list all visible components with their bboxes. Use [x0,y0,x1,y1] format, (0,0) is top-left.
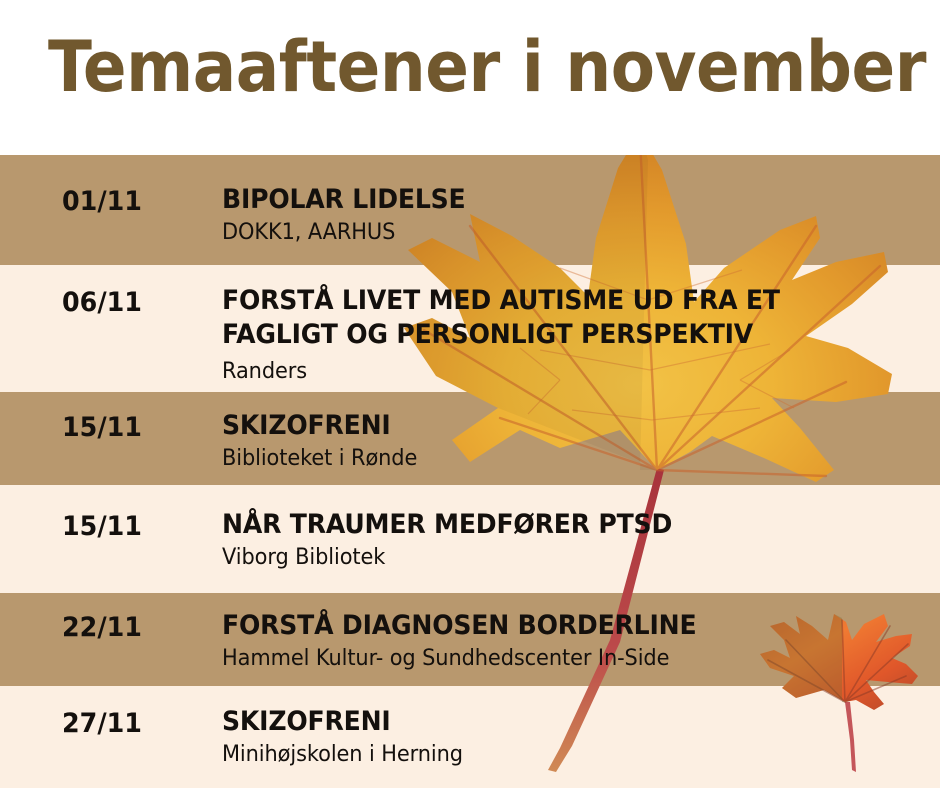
event-venue: Hammel Kultur- og Sundhedscenter In-Side [222,645,895,673]
event-title: BIPOLAR LIDELSE [222,183,880,217]
event-info: SKIZOFRENI Minihøjskolen i Herning [222,705,930,769]
event-row[interactable]: 22/11 FORSTÅ DIAGNOSEN BORDERLINE Hammel… [0,593,940,686]
event-title: NÅR TRAUMER MEDFØRER PTSD [222,508,880,542]
event-date: 06/11 [62,287,142,318]
event-title: FORSTÅ LIVET MED AUTISME UD FRA ET FAGLI… [222,284,873,352]
event-info: SKIZOFRENI Biblioteket i Rønde [222,409,930,473]
event-venue: Minihøjskolen i Herning [222,741,895,769]
event-date: 15/11 [62,412,142,443]
event-title: FORSTÅ DIAGNOSEN BORDERLINE [222,609,880,643]
event-venue: Biblioteket i Rønde [222,445,895,473]
event-date: 27/11 [62,708,142,739]
event-date: 22/11 [62,612,142,643]
event-row[interactable]: 01/11 BIPOLAR LIDELSE DOKK1, AARHUS [0,155,940,265]
event-date: 15/11 [62,511,142,542]
event-info: NÅR TRAUMER MEDFØRER PTSD Viborg Bibliot… [222,508,930,572]
event-poster: Temaaftener i november 01/11 BIPOLAR LID… [0,0,940,788]
event-info: FORSTÅ LIVET MED AUTISME UD FRA ET FAGLI… [222,284,930,386]
event-row[interactable]: 06/11 FORSTÅ LIVET MED AUTISME UD FRA ET… [0,265,940,392]
event-venue: Randers [222,358,895,386]
event-date: 01/11 [62,186,142,217]
event-info: BIPOLAR LIDELSE DOKK1, AARHUS [222,183,930,247]
event-venue: Viborg Bibliotek [222,544,895,572]
event-row[interactable]: 27/11 SKIZOFRENI Minihøjskolen i Herning [0,686,940,788]
event-row[interactable]: 15/11 SKIZOFRENI Biblioteket i Rønde [0,392,940,485]
event-title: SKIZOFRENI [222,705,880,739]
event-venue: DOKK1, AARHUS [222,219,895,247]
title-band: Temaaftener i november [0,0,940,155]
event-info: FORSTÅ DIAGNOSEN BORDERLINE Hammel Kultu… [222,609,930,673]
event-row[interactable]: 15/11 NÅR TRAUMER MEDFØRER PTSD Viborg B… [0,485,940,593]
event-title: SKIZOFRENI [222,409,880,443]
page-title: Temaaftener i november [48,26,926,108]
